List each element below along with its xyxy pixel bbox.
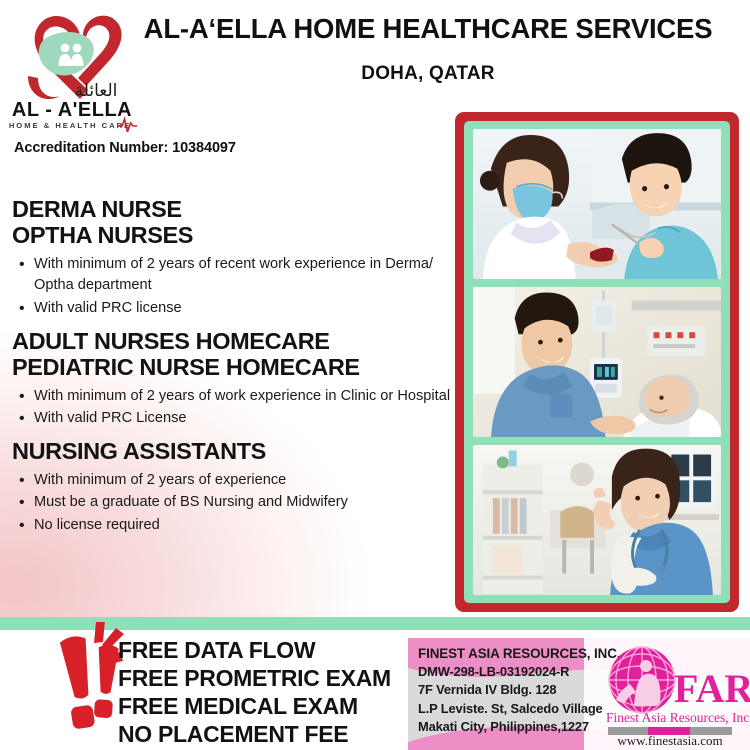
page-title: AL-A‘ELLA HOME HEALTHCARE SERVICES	[108, 14, 748, 44]
job-title: DERMA NURSE	[12, 196, 452, 222]
requirement-item: With valid PRC License	[12, 408, 452, 429]
photo-collage-inner-frame	[464, 121, 730, 603]
requirement-item: With minimum of 2 years of experience	[12, 470, 452, 491]
perks-list: FREE DATA FLOW FREE PROMETRIC EXAM FREE …	[118, 636, 391, 748]
svg-text:FARI: FARI	[674, 666, 750, 711]
fari-logo-graphic: FARI Finest Asia Resources, Inc. www.fin…	[590, 640, 750, 748]
svg-text:AL - A'ELLA: AL - A'ELLA	[12, 99, 132, 121]
svg-text:Finest Asia Resources, Inc.: Finest Asia Resources, Inc.	[606, 710, 750, 725]
requirement-list: With minimum of 2 years of work experien…	[12, 386, 452, 430]
photo-collage	[455, 112, 739, 612]
photo-nurse-pointing	[473, 445, 721, 595]
fari-logo: FARI Finest Asia Resources, Inc. www.fin…	[590, 640, 750, 748]
job-group: DERMA NURSE OPTHA NURSES With minimum of…	[12, 196, 452, 319]
photo-nurse-with-elderly-patient	[473, 287, 721, 437]
job-title: PEDIATRIC NURSE HOMECARE	[12, 354, 452, 380]
requirement-item: With minimum of 2 years of work experien…	[12, 386, 452, 407]
perk-item: FREE MEDICAL EXAM	[118, 692, 391, 720]
perk-item: FREE PROMETRIC EXAM	[118, 664, 391, 692]
requirement-item: With minimum of 2 years of recent work e…	[12, 254, 452, 297]
requirement-list: With minimum of 2 years of recent work e…	[12, 254, 452, 319]
job-title: NURSING ASSISTANTS	[12, 438, 452, 464]
job-group: ADULT NURSES HOMECARE PEDIATRIC NURSE HO…	[12, 328, 452, 430]
recruitment-poster: العائلة AL - A'ELLA HOME & HEALTH CARE A…	[0, 0, 750, 750]
perk-item: NO PLACEMENT FEE	[118, 720, 391, 748]
job-title: OPTHA NURSES	[12, 222, 452, 248]
requirement-item: No license required	[12, 515, 452, 536]
svg-text:HOME & HEALTH CARE: HOME & HEALTH CARE	[9, 121, 131, 130]
job-title: ADULT NURSES HOMECARE	[12, 328, 452, 354]
photo-nurse-with-child	[473, 129, 721, 279]
job-listings: DERMA NURSE OPTHA NURSES With minimum of…	[12, 196, 452, 538]
svg-text:www.finestasia.com: www.finestasia.com	[617, 733, 722, 748]
bottom-banner: FREE DATA FLOW FREE PROMETRIC EXAM FREE …	[0, 630, 750, 750]
perk-item: FREE DATA FLOW	[118, 636, 391, 664]
requirement-item: With valid PRC license	[12, 298, 452, 319]
accreditation-number: Accreditation Number: 10384097	[14, 140, 236, 156]
job-group: NURSING ASSISTANTS With minimum of 2 yea…	[12, 438, 452, 536]
requirement-item: Must be a graduate of BS Nursing and Mid…	[12, 492, 452, 513]
requirement-list: With minimum of 2 years of experience Mu…	[12, 470, 452, 536]
city-subtitle: DOHA, QATAR	[108, 63, 748, 85]
agency-card: FINEST ASIA RESOURCES, INC. DMW-298-LB-0…	[408, 638, 750, 750]
